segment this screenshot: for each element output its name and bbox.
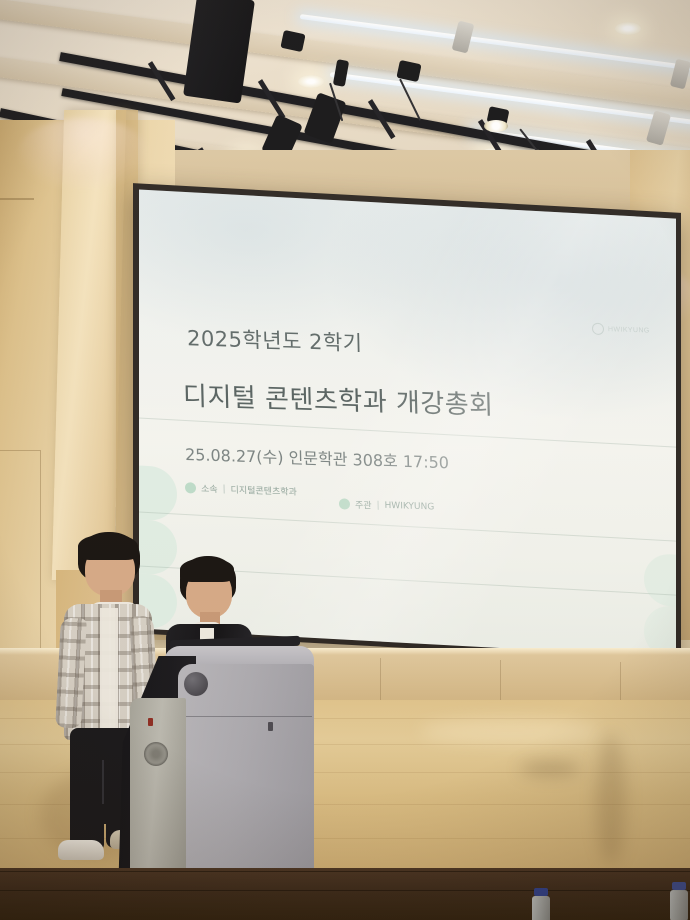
podium-indicator-light (148, 718, 153, 726)
water-bottle[interactable] (530, 888, 552, 920)
wall-seam (0, 198, 34, 200)
credit-value: HWIKYUNG (385, 500, 435, 512)
bottle-cap (534, 888, 548, 896)
door-frame (0, 450, 41, 662)
podium-front-panel (130, 698, 186, 894)
credit-value: 디지털콘텐츠학과 (230, 483, 297, 498)
credit-separator: | (222, 484, 225, 494)
credit-label: 주관 (355, 498, 372, 512)
podium-lock[interactable] (268, 722, 273, 731)
podium-speaker-grille (144, 742, 168, 766)
bottle-body (532, 896, 550, 920)
bottle-body (670, 890, 688, 920)
floor-reflection (596, 734, 626, 864)
stage-front-edge (0, 868, 690, 920)
credit-separator: | (376, 500, 379, 510)
podium-body (178, 664, 314, 896)
panel-seam (380, 658, 381, 706)
pants-seam (102, 760, 104, 804)
logo-ring-icon (592, 323, 604, 335)
slide-divider (139, 511, 676, 541)
track-spotlight (452, 21, 475, 54)
hair-fringe (78, 534, 138, 560)
wall-wash-glow (18, 118, 148, 188)
floor-reflection (420, 718, 600, 744)
water-bottle[interactable] (668, 882, 690, 920)
slide-decor-blob (644, 553, 676, 608)
hair-fringe (180, 558, 234, 582)
slide-headline-line1: 2025학년도 2학기 (187, 322, 363, 357)
bullet-dot-icon (185, 482, 196, 493)
slide-credit-organizer: 주관 | HWIKYUNG (339, 497, 435, 513)
downlight (298, 75, 324, 88)
credit-label: 소속 (201, 482, 218, 496)
podium-seam (180, 716, 312, 717)
slide-headline-line2: 디지털 콘텐츠학과 개강총회 (183, 376, 494, 422)
floor-reflection (520, 762, 580, 776)
slide-logo: HWIKYUNG (592, 323, 650, 337)
lectern-podium[interactable] (118, 636, 314, 898)
slide-date-line: 25.08.27(수) 인문학관 308호 17:50 (185, 441, 449, 473)
shoe-left (58, 840, 104, 860)
slide-credit-affiliation: 소속 | 디지털콘텐츠학과 (185, 481, 297, 498)
bullet-dot-icon (339, 498, 350, 509)
bottle-cap (672, 882, 686, 890)
podium-knob[interactable] (184, 672, 208, 696)
spotlight-lens (484, 120, 508, 132)
shirt-placket (100, 608, 118, 728)
downlight (615, 22, 641, 35)
lecture-hall-photo: HWIKYUNG 2025학년도 2학기 디지털 콘텐츠학과 개강총회 25.0… (0, 0, 690, 920)
slide-logo-text: HWIKYUNG (608, 326, 650, 334)
